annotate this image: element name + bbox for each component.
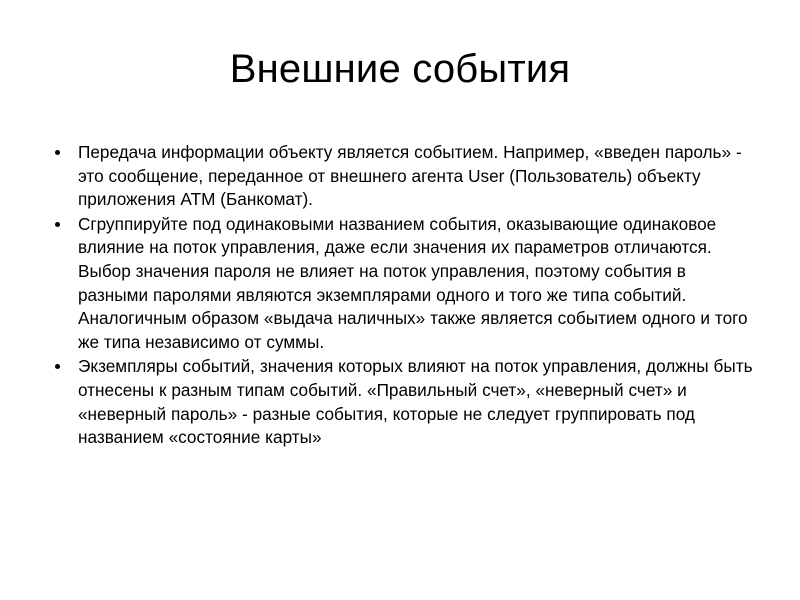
bullet-dot-icon (55, 364, 60, 369)
list-item: Передача информации объекту является соб… (50, 141, 756, 212)
list-item-text: Сгруппируйте под одинаковыми названием с… (78, 213, 756, 355)
bullet-dot-icon (55, 222, 60, 227)
list-item-text: Экземпляры событий, значения которых вли… (78, 355, 756, 449)
page-title: Внешние события (0, 46, 800, 92)
bullet-dot-icon (55, 150, 60, 155)
list-item-text: Передача информации объекту является соб… (78, 141, 756, 212)
list-item: Сгруппируйте под одинаковыми названием с… (50, 213, 756, 355)
list-item: Экземпляры событий, значения которых вли… (50, 355, 756, 449)
bullet-list: Передача информации объекту является соб… (50, 141, 756, 451)
slide-canvas: Внешние события Передача информации объе… (0, 0, 800, 600)
